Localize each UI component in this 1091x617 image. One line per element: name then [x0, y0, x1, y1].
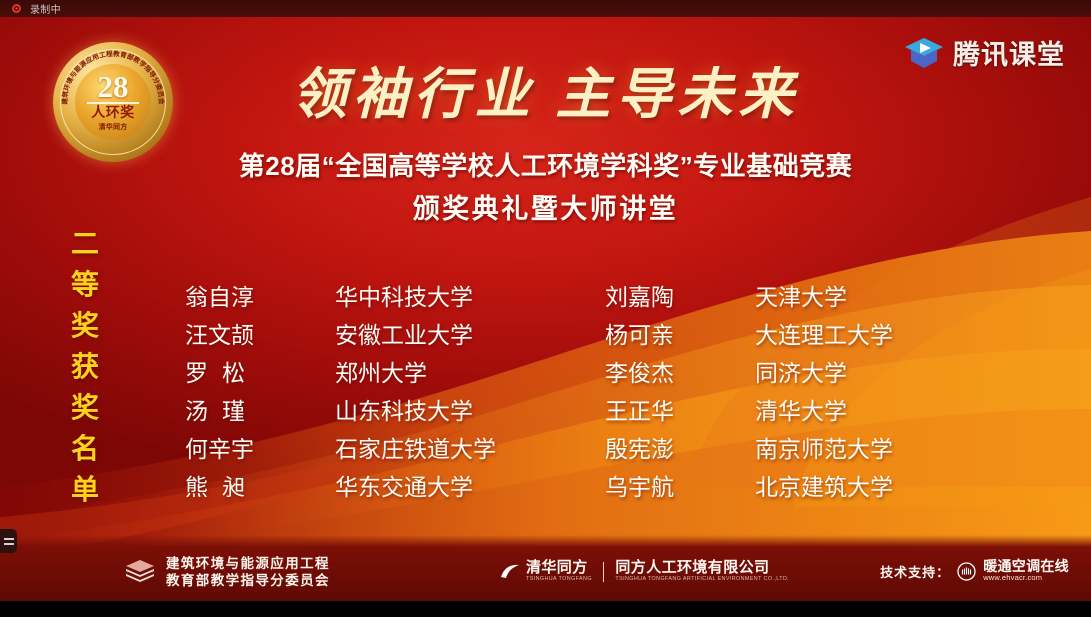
footer-sponsor-company-en: TSINGHUA TONGFANG ARTIFICIAL ENVIRONMENT…	[615, 575, 789, 583]
winner-name: 罗松	[185, 355, 335, 393]
winner-school: 同济大学	[755, 355, 965, 393]
winner-name: 何辛宇	[185, 431, 335, 469]
winner-name: 殷宪澎	[605, 431, 755, 469]
footer-site-url: www.ehvacr.com	[983, 573, 1069, 583]
panel-toggle-icon	[4, 538, 14, 540]
presentation-slide: 建筑环境与能源应用工程教育部教学指导分委员会 28 人环奖 清华同方 腾讯课堂 …	[0, 17, 1091, 601]
record-dot-icon	[12, 4, 21, 13]
footer-tech-support-label: 技术支持：	[880, 562, 950, 581]
vertical-label-char: 等	[71, 272, 99, 300]
footer-sponsor-brand-en: TSINGHUA TONGFANG	[526, 575, 592, 583]
winner-school: 天津大学	[755, 279, 965, 317]
winner-school: 华中科技大学	[335, 279, 605, 317]
slide-subtitle-line1: 第28届“全国高等学校人工环境学科奖”专业基础竞赛	[0, 146, 1091, 183]
ehvacr-badge-icon	[957, 562, 976, 581]
slide-footer: 建筑环境与能源应用工程 教育部教学指导分委员会 清华同方 TSINGHUA TO…	[0, 535, 1091, 601]
winner-school: 清华大学	[755, 393, 965, 431]
slide-subtitle-line2: 颁奖典礼暨大师讲堂	[0, 187, 1091, 226]
tencent-classroom-label: 腾讯课堂	[953, 33, 1065, 72]
book-stack-icon	[124, 558, 156, 586]
winner-name: 李俊杰	[605, 355, 755, 393]
winner-school: 大连理工大学	[755, 317, 965, 355]
winner-name: 刘嘉陶	[605, 279, 755, 317]
winner-name: 熊昶	[185, 469, 335, 507]
vertical-label-char: 奖	[71, 395, 99, 423]
winner-name: 杨可亲	[605, 317, 755, 355]
footer-divider	[603, 562, 605, 582]
panel-toggle-button[interactable]	[0, 529, 17, 553]
vertical-label-char: 单	[71, 477, 99, 505]
winner-school: 山东科技大学	[335, 393, 605, 431]
vertical-label-char: 二	[71, 231, 99, 259]
footer-tech-support: 技术支持： 暖通空调在线 www.ehvacr.com	[880, 559, 1069, 583]
winner-name: 乌宇航	[605, 469, 755, 507]
tongfang-swoosh-icon	[500, 563, 520, 581]
footer-sponsor-brand-cn: 清华同方	[526, 560, 592, 575]
panel-toggle-icon	[4, 543, 14, 545]
winner-name: 汤瑾	[185, 393, 335, 431]
winner-name: 汪文颉	[185, 317, 335, 355]
winner-name: 王正华	[605, 393, 755, 431]
letterbox-bottom	[0, 601, 1091, 617]
vertical-label-char: 名	[71, 436, 99, 464]
footer-committee-line1: 建筑环境与能源应用工程	[166, 555, 330, 572]
recording-status-bar: 录制中	[0, 0, 1091, 17]
winner-school: 郑州大学	[335, 355, 605, 393]
award-category-vertical-label: 二 等 奖 获 奖 名 单	[62, 231, 108, 518]
winners-list: 翁自淳 华中科技大学 刘嘉陶 天津大学 汪文颉 安徽工业大学 杨可亲 大连理工大…	[185, 279, 965, 507]
footer-sponsor-company-cn: 同方人工环境有限公司	[615, 560, 789, 575]
footer-tech-support-site[interactable]: 暖通空调在线 www.ehvacr.com	[983, 559, 1069, 583]
footer-site-name: 暖通空调在线	[983, 559, 1069, 573]
recording-status-label: 录制中	[30, 1, 61, 16]
graduation-cap-play-icon	[904, 36, 944, 70]
footer-sponsor-brand: 清华同方 TSINGHUA TONGFANG	[526, 560, 592, 583]
winner-school: 安徽工业大学	[335, 317, 605, 355]
footer-sponsor: 清华同方 TSINGHUA TONGFANG 同方人工环境有限公司 TSINGH…	[500, 560, 789, 583]
vertical-label-char: 奖	[71, 313, 99, 341]
tencent-classroom-logo: 腾讯课堂	[904, 33, 1065, 72]
footer-committee: 建筑环境与能源应用工程 教育部教学指导分委员会	[124, 555, 330, 589]
vertical-label-char: 获	[71, 354, 99, 382]
footer-committee-line2: 教育部教学指导分委员会	[166, 572, 330, 589]
screen-recording-window: 录制中	[0, 0, 1091, 617]
winner-school: 南京师范大学	[755, 431, 965, 469]
footer-sponsor-company: 同方人工环境有限公司 TSINGHUA TONGFANG ARTIFICIAL …	[615, 560, 789, 583]
winner-school: 北京建筑大学	[755, 469, 965, 507]
winner-name: 翁自淳	[185, 279, 335, 317]
footer-committee-text: 建筑环境与能源应用工程 教育部教学指导分委员会	[166, 555, 330, 589]
winner-school: 华东交通大学	[335, 469, 605, 507]
winner-school: 石家庄铁道大学	[335, 431, 605, 469]
